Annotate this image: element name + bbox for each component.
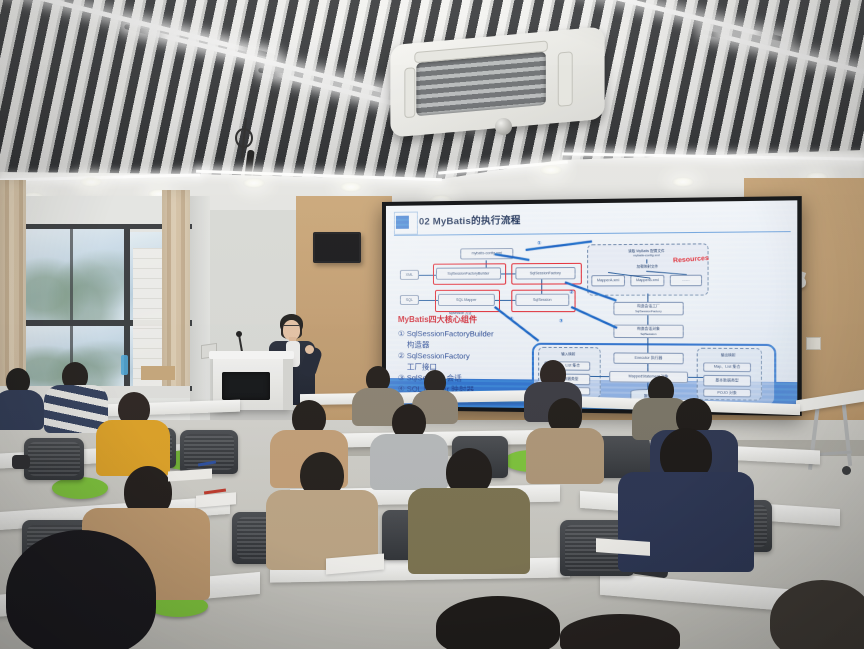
bullet-text: SqlSessionFactory bbox=[407, 351, 470, 360]
diagram-node-xml: XML bbox=[400, 270, 419, 280]
person-head bbox=[6, 530, 156, 649]
bullet-number: ① bbox=[398, 329, 405, 338]
diagram-connector bbox=[646, 259, 647, 263]
diagram-step-3-sub: SqlSessionFactory bbox=[635, 309, 662, 314]
bag bbox=[12, 455, 30, 469]
diagram-connector bbox=[486, 260, 487, 267]
diagram-connector bbox=[688, 377, 703, 378]
diagram-connector bbox=[647, 338, 648, 353]
diagram-step-1-sub: mybatis-config.xml bbox=[633, 253, 659, 258]
blue-square-bullet-icon bbox=[396, 216, 409, 229]
diagram-io-type-2b: 基本数据类型 bbox=[703, 375, 751, 387]
flow-number-1: ① bbox=[537, 241, 541, 247]
flow-number-2: ② bbox=[569, 290, 573, 296]
diagram-node-mapperA: MapperA.xml bbox=[591, 275, 625, 286]
downlight bbox=[340, 182, 362, 192]
slide-surface: 02 MyBatis的执行流程 mybatis-config.xml XML S… bbox=[386, 200, 797, 411]
diagram-io-type-3b: POJO 对象 bbox=[703, 388, 751, 397]
person-body bbox=[526, 428, 604, 484]
downlight bbox=[540, 165, 562, 175]
diagram-step-8: 输出映射 bbox=[703, 351, 753, 360]
bullet-number: ③ bbox=[398, 373, 405, 382]
diagram-step-4: 构造会话对象 SqlSession bbox=[613, 325, 683, 339]
diagram-step-4-sub: SqlSession bbox=[640, 331, 656, 336]
flow-arrow-3 bbox=[571, 306, 617, 328]
classroom-photo: 02 MyBatis的执行流程 mybatis-config.xml XML S… bbox=[0, 0, 864, 649]
cardboard-box bbox=[141, 366, 175, 380]
bullet-text: SqlSessionFactoryBuilder bbox=[407, 329, 494, 338]
diagram-step-2: 加载映射文件 bbox=[622, 262, 673, 271]
slide-red-heading: MyBatis四大核心组件 bbox=[398, 314, 477, 325]
diagram-step-5: Executor 执行器 bbox=[613, 352, 683, 364]
chair-seat[interactable] bbox=[52, 477, 108, 499]
wall-outlet bbox=[806, 337, 821, 350]
diagram-node-mapper: SQL Mapper bbox=[438, 294, 495, 306]
flow-arrow-1 bbox=[526, 240, 592, 250]
ac-vent bbox=[404, 67, 415, 118]
person-body-olive bbox=[408, 488, 530, 574]
diagram-connector bbox=[501, 273, 515, 274]
presenter-glasses bbox=[284, 325, 299, 329]
wall-speaker bbox=[313, 232, 361, 263]
diagram-node-sql: SQL bbox=[400, 295, 419, 305]
diagram-node-mapper-more: …… bbox=[670, 275, 702, 287]
person-body-yellow-hoodie bbox=[96, 420, 170, 476]
water-bottle bbox=[121, 355, 128, 375]
person-body-gray-sweater bbox=[370, 434, 448, 490]
title-underline bbox=[394, 231, 791, 236]
downlight bbox=[80, 177, 102, 187]
diagram-io-type-1b: Map、List 集合 bbox=[703, 362, 751, 372]
slide-title: 02 MyBatis的执行流程 bbox=[419, 212, 521, 227]
lectern-control-panel[interactable] bbox=[222, 372, 270, 400]
downlight bbox=[243, 178, 265, 188]
diagram-connector bbox=[647, 294, 648, 302]
chair-mesh bbox=[28, 442, 80, 476]
diagram-connector bbox=[647, 364, 648, 371]
diagram-node-session: SqlSession bbox=[515, 294, 569, 306]
diagram-connector bbox=[419, 275, 436, 276]
microphone-icon bbox=[236, 331, 242, 337]
ac-grille-icon bbox=[416, 52, 546, 117]
flow-number-3: ③ bbox=[559, 318, 563, 324]
diagram-connector bbox=[647, 315, 648, 324]
person-body bbox=[0, 390, 44, 430]
diagram-connector bbox=[419, 300, 438, 301]
presenter-hand bbox=[305, 345, 314, 354]
diagram-connector bbox=[590, 376, 609, 377]
list-item: ① SqlSessionFactoryBuilder bbox=[398, 328, 561, 340]
diagram-connector bbox=[495, 300, 516, 301]
bullet-number: ② bbox=[398, 351, 405, 360]
diagram-node-builder: SqlSessionFactoryBuilder bbox=[436, 267, 501, 279]
person-head bbox=[436, 596, 560, 649]
diagram-step-3: 构造会话工厂 SqlSessionFactory bbox=[613, 302, 683, 316]
ac-vent bbox=[558, 51, 573, 107]
diagram-node-config: mybatis-config.xml bbox=[460, 248, 513, 260]
downlight bbox=[672, 177, 694, 187]
diagram-step-1: 读取 MyBatis 配置文件 mybatis-config.xml bbox=[611, 247, 681, 260]
person-body-navy-blazer bbox=[618, 472, 754, 572]
bullet-text-sub: 会话 bbox=[447, 374, 462, 383]
diagram-node-factory: SqlSessionFactory bbox=[515, 267, 575, 280]
lectern-side bbox=[283, 358, 293, 410]
diagram-step-6: MappedStatement 对象 bbox=[609, 371, 688, 383]
folding-table-wheel bbox=[842, 466, 851, 475]
lectern-top bbox=[209, 351, 294, 359]
window-view-trees bbox=[22, 228, 126, 322]
ac-sensor bbox=[495, 118, 512, 135]
diagram-connector bbox=[541, 279, 542, 293]
flow-number-4: ④ bbox=[509, 316, 513, 322]
